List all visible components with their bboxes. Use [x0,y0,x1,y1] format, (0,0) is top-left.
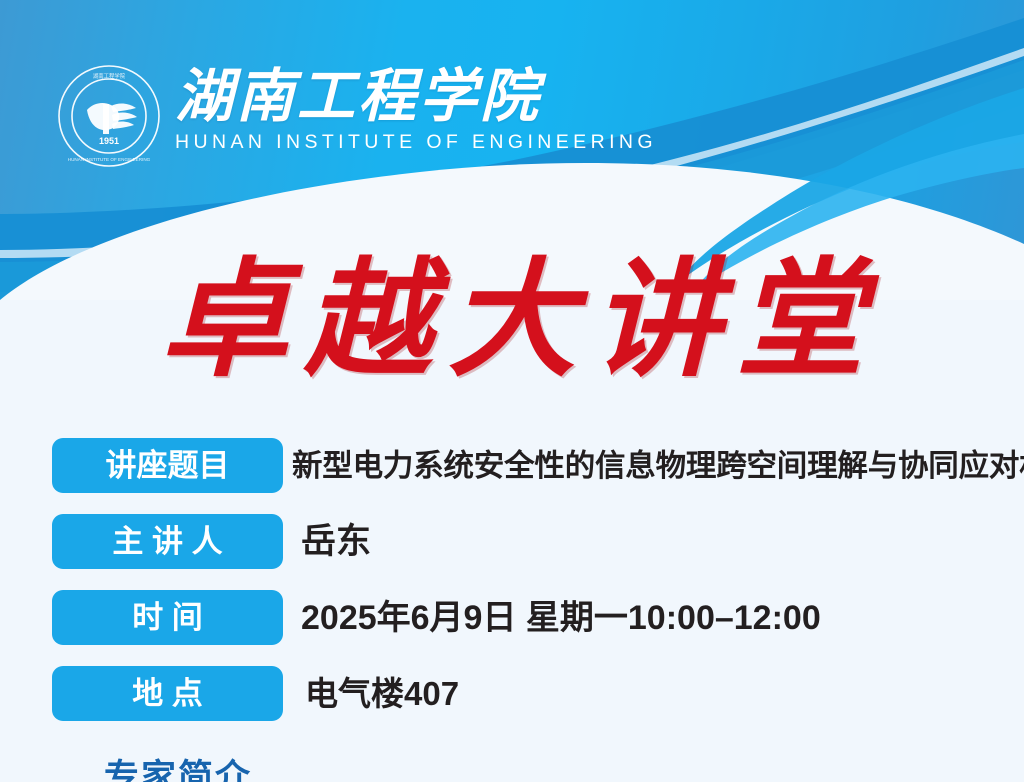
info-value-place: 电气楼407 [305,675,459,713]
info-value-topic: 新型电力系统安全性的信息物理跨空间理解与协同应对机制 [292,449,1024,483]
university-name-block: 湖南工程学院 HUNAN INSTITUTE OF ENGINEERING [175,66,657,153]
info-badge-topic: 讲座题目 [52,438,283,493]
series-title-calligraphy: 卓越大讲堂 [0,246,1024,396]
info-row-time: 时 间 2025年6月9日 星期一10:00–12:00 [0,590,1024,645]
lecture-poster: 1951 湖南工程学院 HUNAN INSTITUTE OF ENGINEERI… [0,0,1024,782]
info-value-time: 2025年6月9日 星期一10:00–12:00 [301,599,821,637]
info-badge-place: 地 点 [52,666,283,721]
university-name-cn: 湖南工程学院 [175,66,657,128]
info-value-speaker: 岳东 [301,523,371,561]
info-badge-label-place: 地 点 [132,677,203,711]
lecture-info-list: 讲座题目 新型电力系统安全性的信息物理跨空间理解与协同应对机制 主 讲 人 岳东… [0,438,1024,742]
seal-year: 1951 [99,136,119,146]
university-seal-icon: 1951 湖南工程学院 HUNAN INSTITUTE OF ENGINEERI… [57,64,161,168]
info-badge-time: 时 间 [52,590,283,645]
speaker-bio-heading: 专家简介 [104,758,252,782]
university-name-en: HUNAN INSTITUTE OF ENGINEERING [175,131,657,153]
info-badge-label-topic: 讲座题目 [106,449,230,483]
info-badge-speaker: 主 讲 人 [52,514,283,569]
info-row-topic: 讲座题目 新型电力系统安全性的信息物理跨空间理解与协同应对机制 [0,438,1024,493]
info-badge-label-speaker: 主 讲 人 [112,525,222,559]
seal-ring-text-cn: 湖南工程学院 [93,72,126,80]
info-row-speaker: 主 讲 人 岳东 [0,514,1024,569]
info-row-place: 地 点 电气楼407 [0,666,1024,721]
info-badge-label-time: 时 间 [132,601,203,635]
university-logo: 1951 湖南工程学院 HUNAN INSTITUTE OF ENGINEERI… [57,64,657,168]
seal-ring-text-en: HUNAN INSTITUTE OF ENGINEERING [68,157,151,162]
